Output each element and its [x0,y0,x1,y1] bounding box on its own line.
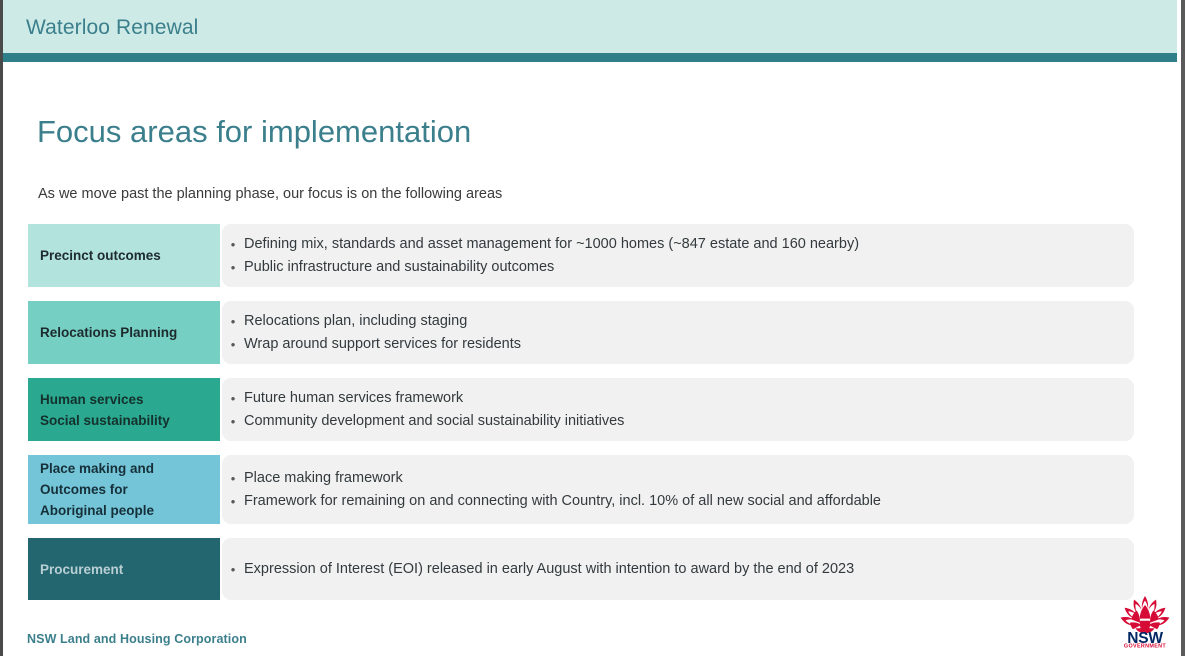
header-band-right-fill [1157,0,1177,53]
bullet-item: •Framework for remaining on and connecti… [222,490,1118,513]
government-wordmark: GOVERNMENT [1124,643,1166,648]
focus-row-content: •Relocations plan, including staging•Wra… [222,301,1134,364]
bullet-text: Wrap around support services for residen… [244,334,1118,355]
focus-row-content: •Expression of Interest (EOI) released i… [222,538,1134,600]
bullet-dot-icon: • [222,257,244,278]
focus-row-label: Human servicesSocial sustainability [28,378,220,441]
focus-row-label: Relocations Planning [28,301,220,364]
page-title: Focus areas for implementation [37,112,471,152]
bullet-dot-icon: • [222,411,244,432]
focus-areas-list: Precinct outcomes•Defining mix, standard… [28,224,1134,614]
focus-row-label-line: Aboriginal people [40,500,154,521]
bullet-item: •Place making framework [222,467,1118,490]
bullet-dot-icon: • [222,388,244,409]
bullet-text: Future human services framework [244,388,1118,409]
focus-row-label-line: Relocations Planning [40,322,177,343]
slide-left-edge-rule [0,0,3,656]
focus-row: Precinct outcomes•Defining mix, standard… [28,224,1134,287]
focus-row: Human servicesSocial sustainability•Futu… [28,378,1134,441]
waratah-flower-icon [1121,596,1170,633]
bullet-item: •Public infrastructure and sustainabilit… [222,256,1118,279]
focus-row-label-line: Outcomes for [40,479,154,500]
bullet-text: Framework for remaining on and connectin… [244,491,1118,512]
bullet-dot-icon: • [222,468,244,489]
bullet-item: •Relocations plan, including staging [222,310,1118,333]
bullet-item: •Community development and social sustai… [222,410,1118,433]
slide-right-edge-rule [1181,0,1185,656]
focus-row: Place making andOutcomes forAboriginal p… [28,455,1134,524]
bullet-dot-icon: • [222,559,244,580]
footer-organisation: NSW Land and Housing Corporation [27,632,247,646]
focus-row-label-line: Human services [40,389,170,410]
bullet-text: Community development and social sustain… [244,411,1118,432]
bullet-text: Defining mix, standards and asset manage… [244,234,1118,255]
focus-row-label: Precinct outcomes [28,224,220,287]
bullet-dot-icon: • [222,311,244,332]
focus-row: Relocations Planning•Relocations plan, i… [28,301,1134,364]
page-subtitle: As we move past the planning phase, our … [38,184,502,204]
focus-row-label-line: Procurement [40,559,123,580]
focus-row-label-line: Place making and [40,458,154,479]
focus-row: Procurement•Expression of Interest (EOI)… [28,538,1134,600]
focus-row-label: Procurement [28,538,220,600]
focus-row-label: Place making andOutcomes forAboriginal p… [28,455,220,524]
slide-canvas: Waterloo Renewal Focus areas for impleme… [0,0,1185,656]
bullet-text: Place making framework [244,468,1118,489]
header-underline-rule [3,53,1177,62]
nsw-government-logo: NSW GOVERNMENT [1114,594,1176,648]
bullet-dot-icon: • [222,234,244,255]
bullet-dot-icon: • [222,491,244,512]
focus-row-content: •Place making framework•Framework for re… [222,455,1134,524]
bullet-item: •Defining mix, standards and asset manag… [222,233,1118,256]
bullet-item: •Expression of Interest (EOI) released i… [222,558,1118,581]
bullet-item: •Future human services framework [222,387,1118,410]
bullet-text: Relocations plan, including staging [244,311,1118,332]
bullet-text: Public infrastructure and sustainability… [244,257,1118,278]
focus-row-content: •Defining mix, standards and asset manag… [222,224,1134,287]
bullet-text: Expression of Interest (EOI) released in… [244,559,1118,580]
header-title: Waterloo Renewal [26,15,198,41]
bullet-dot-icon: • [222,334,244,355]
focus-row-content: •Future human services framework•Communi… [222,378,1134,441]
focus-row-label-line: Precinct outcomes [40,245,161,266]
focus-row-label-line: Social sustainability [40,410,170,431]
bullet-item: •Wrap around support services for reside… [222,333,1118,356]
